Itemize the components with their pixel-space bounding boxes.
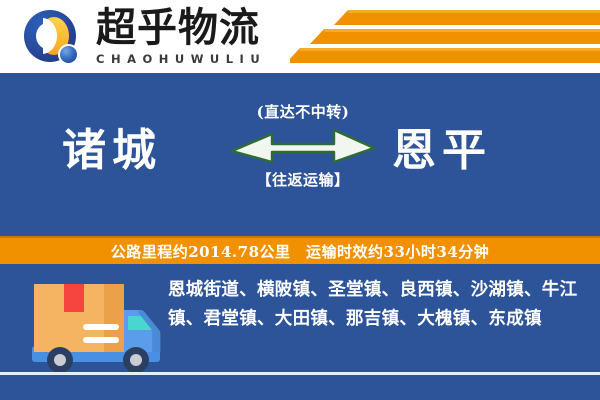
origin-city: 诸城 bbox=[62, 125, 162, 177]
bottom-divider bbox=[0, 372, 600, 375]
delivery-truck-icon bbox=[28, 274, 168, 379]
logo-small-circle bbox=[58, 44, 79, 65]
destination-city: 恩平 bbox=[392, 125, 492, 177]
round-trip-note: 【往返运输】 bbox=[228, 169, 378, 190]
banner-header: 超乎物流 CHAOHUWULIU bbox=[0, 0, 600, 73]
coverage-towns-text: 恩城街道、横陂镇、圣堂镇、良西镇、沙湖镇、牛江镇、君堂镇、大田镇、那吉镇、大槐镇… bbox=[168, 276, 583, 334]
brand-name-en: CHAOHUWULIU bbox=[96, 52, 316, 66]
direct-service-note: (直达不中转) bbox=[228, 101, 378, 122]
distance-duration-bar: 公路里程约2014.78公里 运输时效约33小时34分钟 bbox=[0, 236, 600, 264]
orange-stripes-decoration-icon bbox=[290, 8, 600, 66]
logistics-route-banner: 超乎物流 CHAOHUWULIU 诸城 (直达不中转) 【往返运输】 恩平 公路… bbox=[0, 0, 600, 400]
brand-name-cn: 超乎物流 bbox=[96, 6, 316, 50]
chaohu-logo-icon bbox=[24, 10, 80, 66]
brand-block: 超乎物流 CHAOHUWULIU bbox=[96, 6, 316, 66]
coverage-section: 恩城街道、横陂镇、圣堂镇、良西镇、沙湖镇、牛江镇、君堂镇、大田镇、那吉镇、大槐镇… bbox=[0, 264, 600, 400]
route-arrow-block: (直达不中转) 【往返运输】 bbox=[228, 101, 378, 190]
distance-duration-text: 公路里程约2014.78公里 运输时效约33小时34分钟 bbox=[111, 241, 490, 262]
bidirectional-arrow-icon bbox=[228, 124, 378, 166]
route-section: 诸城 (直达不中转) 【往返运输】 恩平 bbox=[0, 73, 600, 236]
